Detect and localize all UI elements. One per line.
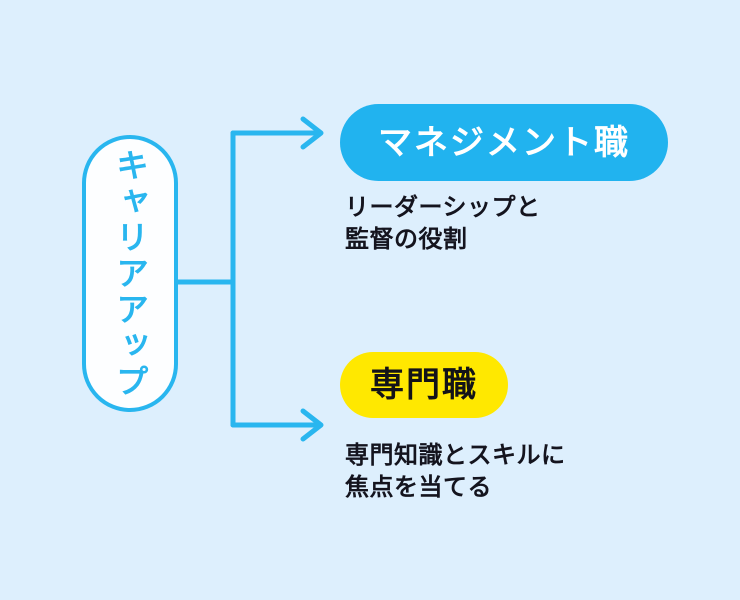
source-node-label: キャリアアップ [114, 148, 147, 400]
arrowhead-specialist-icon [303, 411, 321, 439]
outcome-pill-specialist-label: 専門職 [370, 368, 478, 402]
description-specialist-line-1: 専門知識とスキルに [345, 440, 566, 472]
description-management-line-2: 監督の役割 [345, 224, 541, 256]
outcome-pill-specialist[interactable]: 専門職 [340, 352, 508, 418]
description-management-line-1: リーダーシップと [345, 192, 541, 224]
description-specialist: 専門知識とスキルに 焦点を当てる [345, 440, 566, 503]
diagram-canvas: キャリアアップ マネジメント職 リーダーシップと 監督の役割 専門職 専門知識と… [0, 0, 740, 600]
description-specialist-line-2: 焦点を当てる [345, 472, 566, 504]
outcome-pill-management-label: マネジメント職 [378, 126, 630, 160]
arrowhead-management-icon [303, 119, 321, 147]
description-management: リーダーシップと 監督の役割 [345, 192, 541, 255]
outcome-pill-management[interactable]: マネジメント職 [340, 104, 668, 181]
source-node-career-advancement[interactable]: キャリアアップ [82, 135, 178, 412]
